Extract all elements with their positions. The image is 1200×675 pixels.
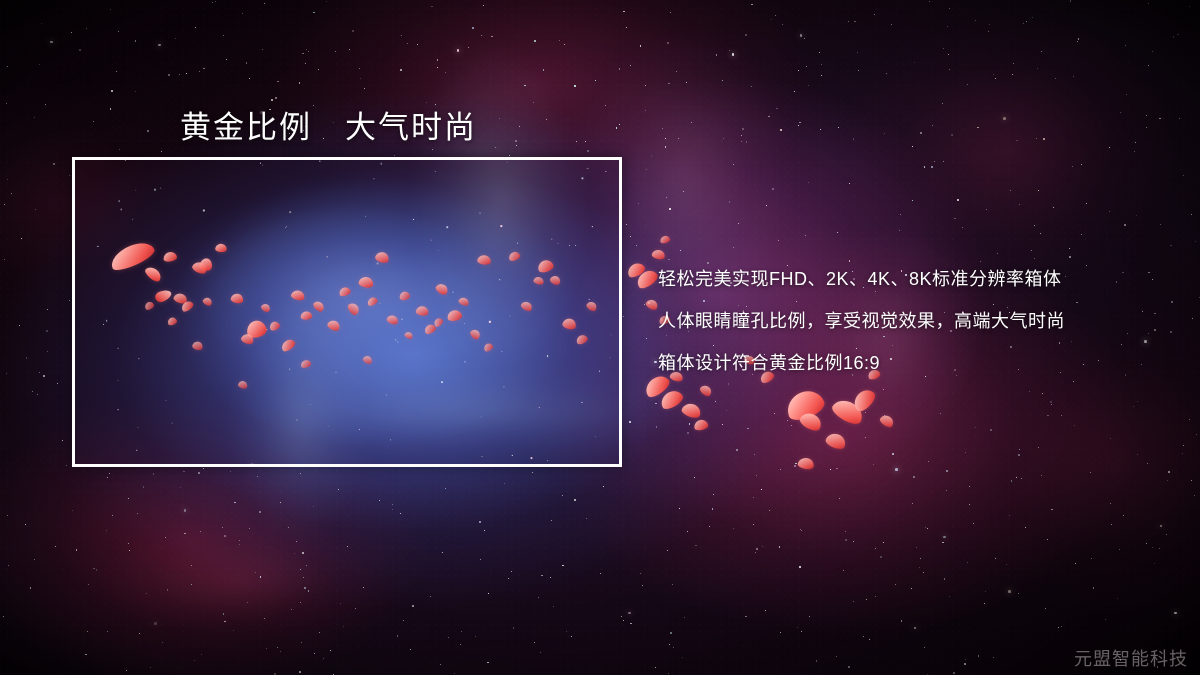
panel-nebula-wisps bbox=[75, 160, 619, 464]
company-watermark: 元盟智能科技 bbox=[1074, 645, 1188, 671]
body-line-1: 轻松完美实现FHD、2K、4K、8K标准分辨率箱体 bbox=[658, 258, 1178, 300]
panel-nebula-image bbox=[75, 160, 619, 464]
slide-canvas: 黄金比例 大气时尚 轻松完美实现FHD、2K、4K、8K标准分辨率箱体 人体眼睛… bbox=[0, 0, 1200, 675]
panel-content bbox=[75, 160, 619, 464]
body-line-2: 人体眼睛瞳孔比例，享受视觉效果，高端大气时尚 bbox=[658, 300, 1178, 342]
body-copy-block: 轻松完美实现FHD、2K、4K、8K标准分辨率箱体 人体眼睛瞳孔比例，享受视觉效… bbox=[658, 258, 1178, 384]
body-line-3: 箱体设计符合黄金比例16:9 bbox=[658, 342, 1178, 384]
page-title: 黄金比例 大气时尚 bbox=[180, 102, 477, 147]
display-cabinet-panel[interactable] bbox=[72, 157, 622, 467]
